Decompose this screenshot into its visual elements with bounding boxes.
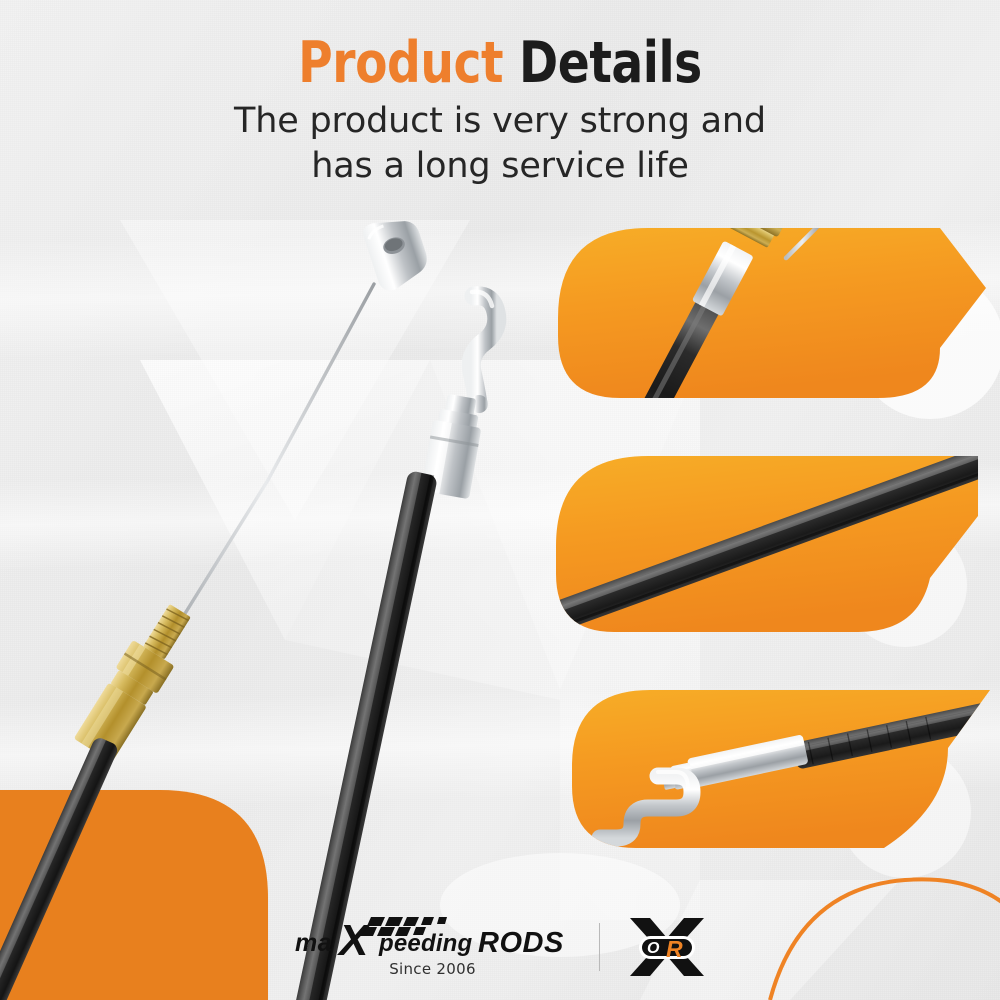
maxpeedingrods-logo: ma X peeding RODS Since 2006: [293, 915, 573, 978]
page-subtitle-line-1: The product is very strong and: [0, 99, 1000, 143]
wordmark-ma: ma: [295, 929, 332, 957]
maxpeedingrods-wordmark: ma X peeding RODS: [293, 915, 573, 957]
footer-divider: [599, 923, 600, 971]
wordmark-peeding: peeding: [378, 930, 473, 957]
hero-left-cable-assembly: [0, 210, 434, 1000]
eyelet-terminal: [361, 210, 434, 293]
page-title-rest: Details: [519, 30, 702, 96]
page-title: Product Details: [40, 34, 960, 92]
badge-letter-o: O: [647, 940, 660, 957]
oxr-badge-logo: O R: [626, 916, 708, 978]
hero-right-cable-assembly: [292, 292, 496, 1000]
inner-steel-wire: [176, 284, 374, 628]
page-title-accent: Product: [298, 30, 503, 96]
brand-tagline: Since 2006: [389, 960, 476, 978]
product-detail-image: Product Details The product is very stro…: [0, 0, 1000, 1000]
footer-brand-bar: ma X peeding RODS Since 2006 O R: [0, 915, 1000, 978]
threaded-adjuster-nut: [72, 598, 201, 764]
page-subtitle-line-2: has a long service life: [0, 144, 1000, 188]
badge-letter-r: R: [666, 936, 683, 962]
wordmark-x: X: [336, 916, 371, 957]
page-subtitle: The product is very strong and has a lon…: [0, 99, 1000, 188]
headline-block: Product Details The product is very stro…: [0, 34, 1000, 188]
z-bend-hook-terminal: [470, 292, 497, 413]
wordmark-rods: RODS: [478, 927, 564, 957]
